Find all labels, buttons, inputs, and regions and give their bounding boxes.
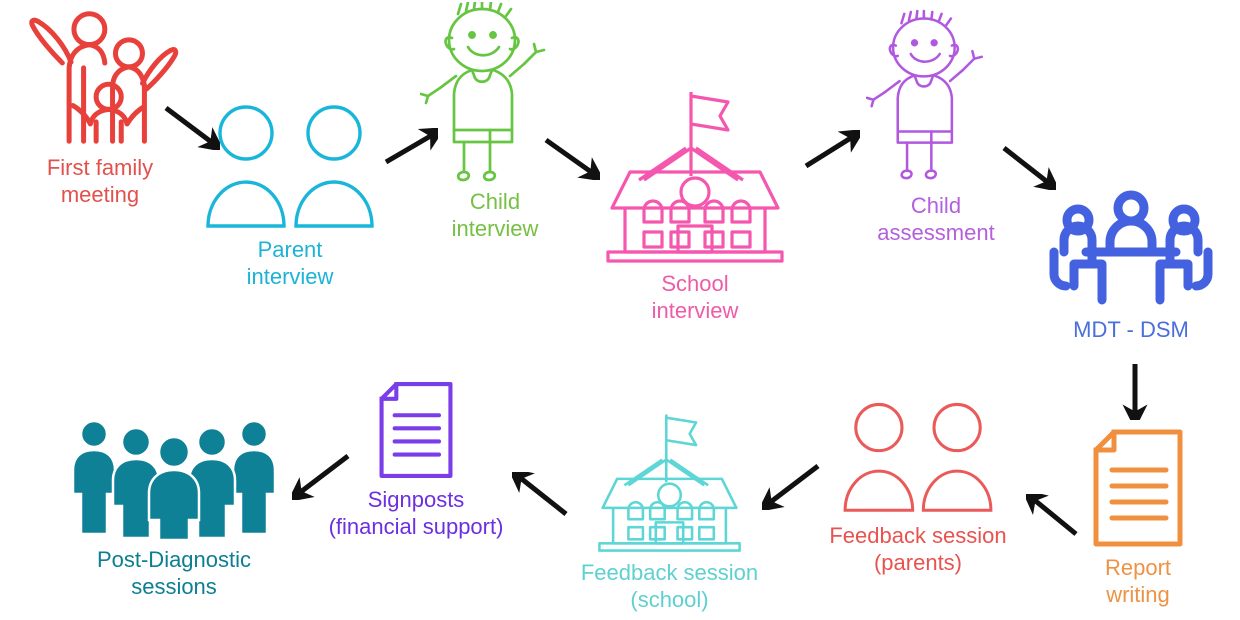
- flow-arrow-9: [512, 472, 570, 518]
- flow-step-report-writing[interactable]: Report writing: [1058, 428, 1218, 609]
- flow-arrow-10: [292, 452, 352, 500]
- school-building-icon: [592, 408, 747, 558]
- document-icon: [375, 380, 457, 485]
- arrow-icon: [1000, 144, 1056, 190]
- flow-step-child-assessment[interactable]: Child assessment: [826, 6, 1046, 247]
- flow-step-label-child-assessment: Child assessment: [826, 193, 1046, 247]
- arrow-icon: [162, 104, 220, 150]
- document-icon: [375, 380, 457, 480]
- arrow-icon: [382, 128, 438, 166]
- flow-step-label-parent-interview: Parent interview: [185, 237, 395, 291]
- school-building-icon: [592, 408, 747, 553]
- flow-diagram-canvas: First family meeting Parent interview: [0, 0, 1240, 620]
- child-stick-figure-icon: [866, 6, 1006, 191]
- meeting-table-icon: [1046, 190, 1216, 315]
- child-stick-figure-icon: [866, 6, 1006, 186]
- arrow-icon: [762, 462, 822, 510]
- arrow-icon: [292, 452, 352, 500]
- flow-arrow-2: [382, 128, 438, 166]
- flow-step-label-school-interview: School interview: [590, 271, 800, 325]
- two-people-icon: [838, 396, 998, 516]
- flow-step-label-child-interview: Child interview: [395, 189, 595, 243]
- flow-step-label-feedback-session-parents: Feedback session (parents): [803, 523, 1033, 577]
- two-people-icon: [200, 100, 380, 230]
- arrow-icon: [512, 472, 570, 518]
- two-people-icon: [200, 100, 380, 235]
- arrow-icon: [542, 136, 600, 180]
- family-icon: [20, 8, 180, 153]
- arrow-icon: [802, 130, 860, 172]
- flow-arrow-3: [542, 136, 600, 180]
- family-icon: [20, 8, 180, 148]
- flow-step-label-mdt-dsm: MDT - DSM: [1031, 317, 1231, 344]
- flow-step-child-interview[interactable]: Child interview: [395, 2, 595, 243]
- flow-arrow-5: [1000, 144, 1056, 190]
- flow-step-label-report-writing: Report writing: [1058, 555, 1218, 609]
- flow-arrow-7: [1026, 494, 1082, 538]
- flow-step-feedback-session-school[interactable]: Feedback session (school): [555, 408, 785, 614]
- document-icon: [1088, 428, 1188, 553]
- document-icon: [1088, 428, 1188, 548]
- flow-step-label-post-diagnostic-sessions: Post-Diagnostic sessions: [54, 547, 294, 601]
- flow-arrow-6: [1122, 362, 1148, 420]
- flow-step-mdt-dsm[interactable]: MDT - DSM: [1031, 190, 1231, 344]
- school-building-icon: [600, 84, 790, 264]
- two-people-icon: [838, 396, 998, 521]
- flow-arrow-4: [802, 130, 860, 172]
- flow-step-label-feedback-session-school: Feedback session (school): [555, 560, 785, 614]
- meeting-table-icon: [1046, 190, 1216, 310]
- flow-arrow-1: [162, 104, 220, 150]
- flow-step-label-first-family-meeting: First family meeting: [0, 155, 205, 209]
- people-group-icon: [68, 418, 280, 545]
- flow-step-school-interview[interactable]: School interview: [590, 84, 800, 325]
- school-building-icon: [600, 84, 790, 269]
- arrow-icon: [1026, 494, 1082, 538]
- people-group-icon: [68, 418, 280, 540]
- flow-step-feedback-session-parents[interactable]: Feedback session (parents): [803, 396, 1033, 577]
- flow-arrow-8: [762, 462, 822, 510]
- arrow-icon: [1122, 362, 1148, 420]
- flow-step-post-diagnostic-sessions[interactable]: Post-Diagnostic sessions: [54, 418, 294, 601]
